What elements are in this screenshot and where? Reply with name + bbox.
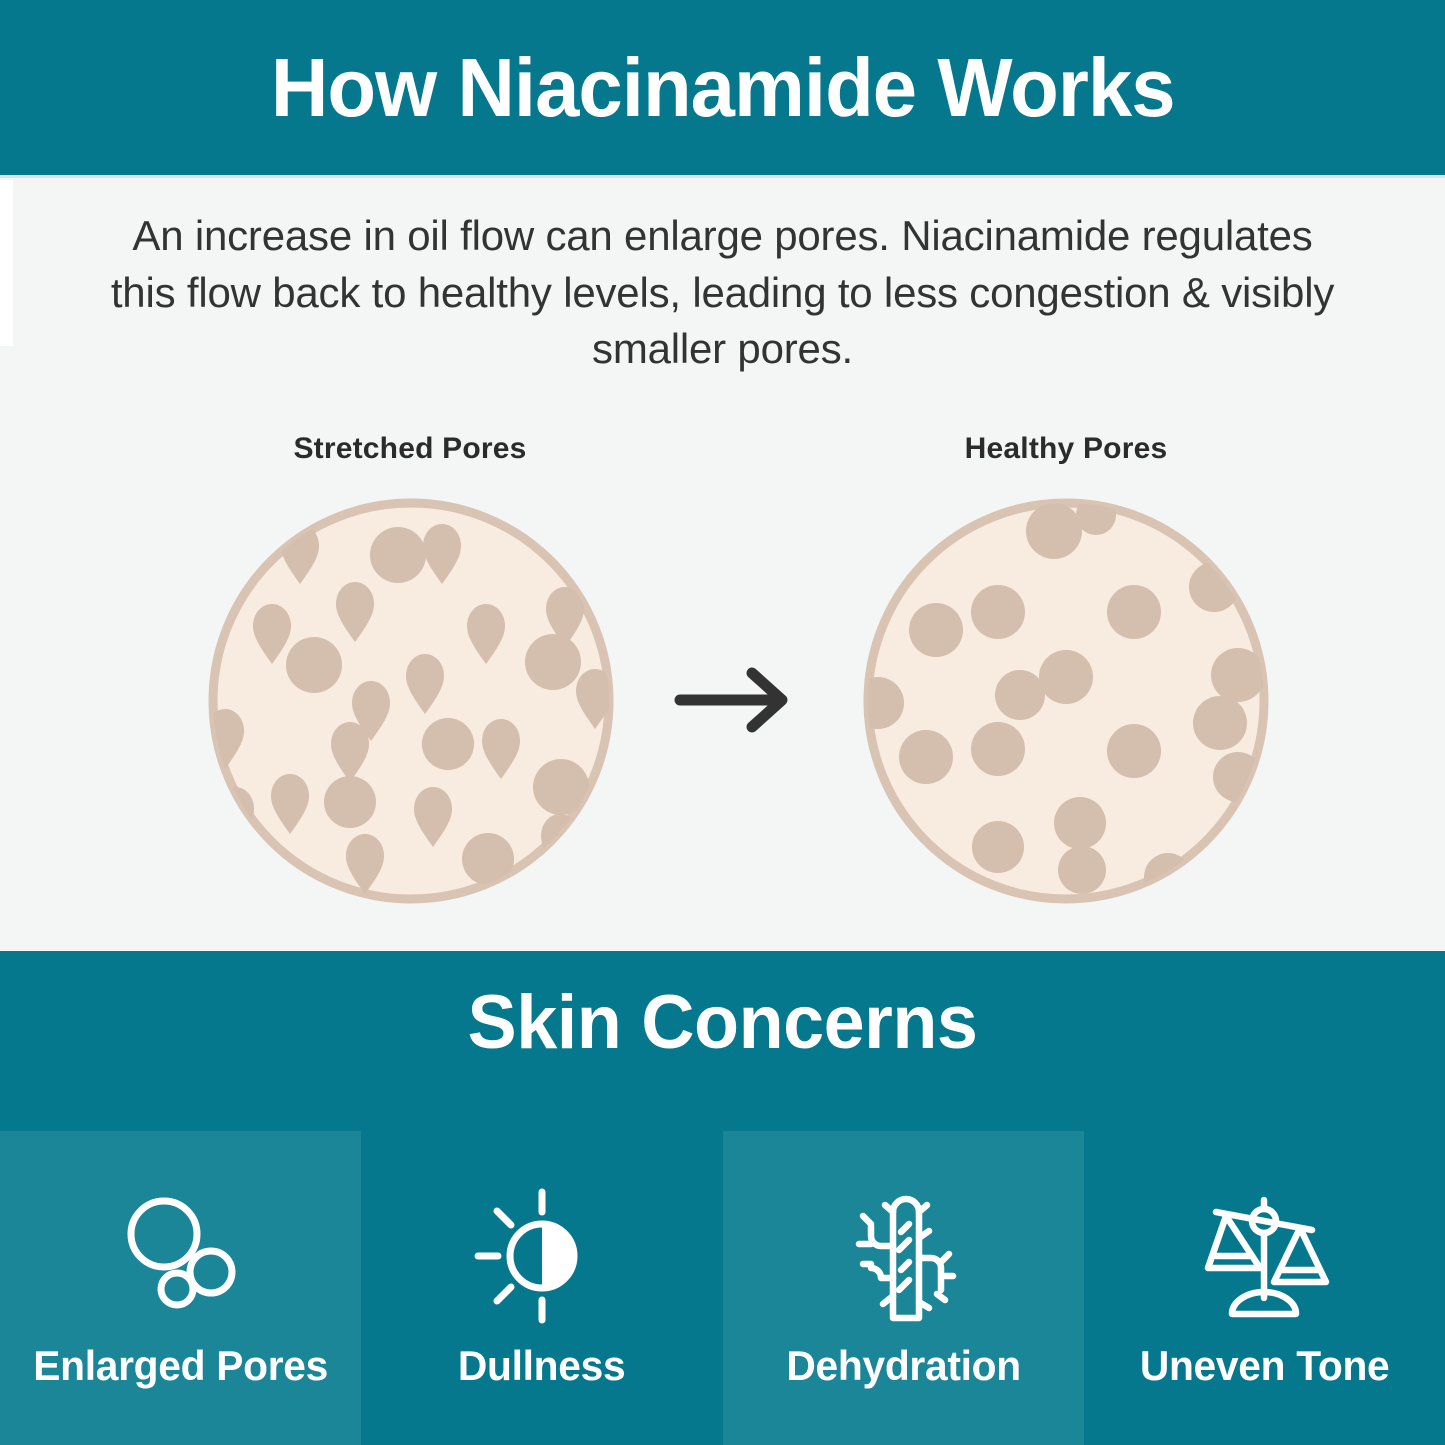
header-band: How Niacinamide Works [0,0,1445,175]
stretched-pores-label: Stretched Pores [210,432,610,466]
concern-label: Enlarged Pores [5,1345,355,1387]
concern-tile-uneven-tone[interactable]: Uneven Tone [1084,1131,1445,1445]
bubbles-icon [111,1186,251,1326]
left-edge-notch [0,180,13,346]
skin-concerns-title: Skin Concerns [22,985,1424,1061]
concern-tile-dullness[interactable]: Dullness [361,1131,722,1445]
skin-concerns-tiles: Enlarged Pores Dullness [0,1131,1445,1445]
page-title: How Niacinamide Works [271,46,1175,129]
concern-tile-enlarged-pores[interactable]: Enlarged Pores [0,1131,361,1445]
healthy-pores-label: Healthy Pores [866,432,1266,466]
concern-tile-dehydration[interactable]: Dehydration [723,1131,1084,1445]
stretched-pores-illustration [205,495,617,907]
half-sun-icon [472,1186,612,1326]
balance-scale-icon [1194,1186,1334,1326]
concern-label: Dehydration [728,1345,1078,1387]
infographic-page: How Niacinamide Works An increase in oil… [0,0,1445,1445]
concern-label: Uneven Tone [1089,1345,1439,1387]
cactus-icon [833,1186,973,1326]
arrow-right-icon [672,662,802,738]
concern-label: Dullness [367,1345,717,1387]
healthy-pores-illustration [860,495,1272,907]
intro-paragraph: An increase in oil flow can enlarge pore… [110,208,1335,378]
